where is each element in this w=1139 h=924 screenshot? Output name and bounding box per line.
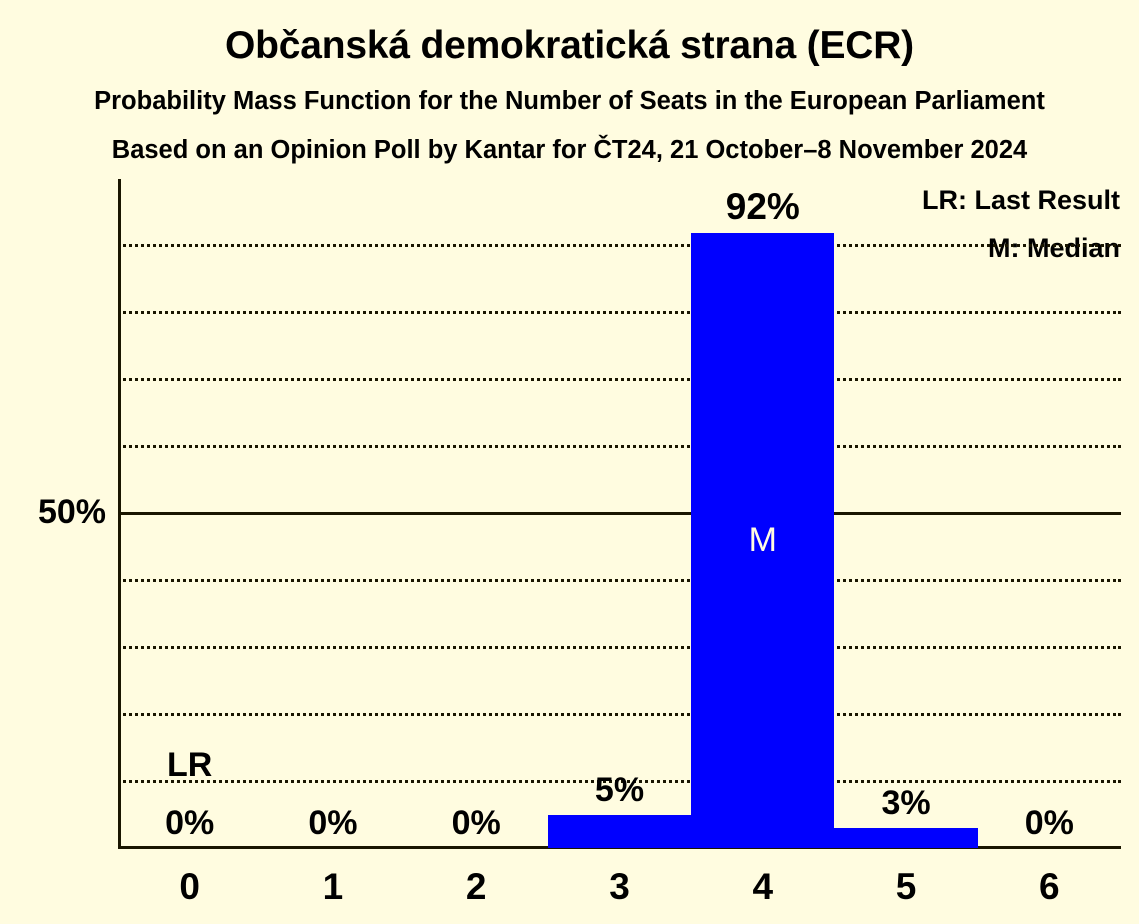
- bar-value-label: 0%: [118, 804, 261, 843]
- bar-value-label: 0%: [978, 804, 1121, 843]
- gridline-minor: [118, 311, 1121, 314]
- gridline-major: [118, 512, 1121, 515]
- gridline-minor: [118, 713, 1121, 716]
- page-title: Občanská demokratická strana (ECR): [0, 24, 1139, 68]
- x-axis-tick-label: 5: [834, 866, 977, 908]
- last-result-marker: LR: [118, 746, 261, 785]
- x-axis-tick-label: 3: [548, 866, 691, 908]
- median-marker: M: [691, 523, 834, 557]
- chart-canvas: Občanská demokratická strana (ECR) Proba…: [0, 0, 1139, 924]
- bar-value-label: 92%: [691, 186, 834, 228]
- x-axis-tick-label: 4: [691, 866, 834, 908]
- bar[interactable]: M: [691, 233, 834, 848]
- plot-area: 0%0%0%5%M92%3%0%: [118, 179, 1121, 848]
- bar-value-label: 5%: [548, 771, 691, 810]
- bar[interactable]: [834, 828, 977, 848]
- x-axis-tick-label: 1: [261, 866, 404, 908]
- gridline-minor: [118, 244, 1121, 247]
- gridline-minor: [118, 579, 1121, 582]
- x-axis-tick-label: 6: [978, 866, 1121, 908]
- bar[interactable]: [548, 815, 691, 848]
- gridline-minor: [118, 445, 1121, 448]
- gridline-minor: [118, 378, 1121, 381]
- chart-subtitle-source: Based on an Opinion Poll by Kantar for Č…: [0, 136, 1139, 165]
- y-axis-tick-label: 50%: [38, 493, 106, 532]
- x-axis-tick-label: 2: [405, 866, 548, 908]
- bar-value-label: 0%: [405, 804, 548, 843]
- gridline-minor: [118, 646, 1121, 649]
- chart-subtitle-primary: Probability Mass Function for the Number…: [0, 87, 1139, 116]
- bar-value-label: 3%: [834, 784, 977, 823]
- bar-value-label: 0%: [261, 804, 404, 843]
- x-axis-tick-label: 0: [118, 866, 261, 908]
